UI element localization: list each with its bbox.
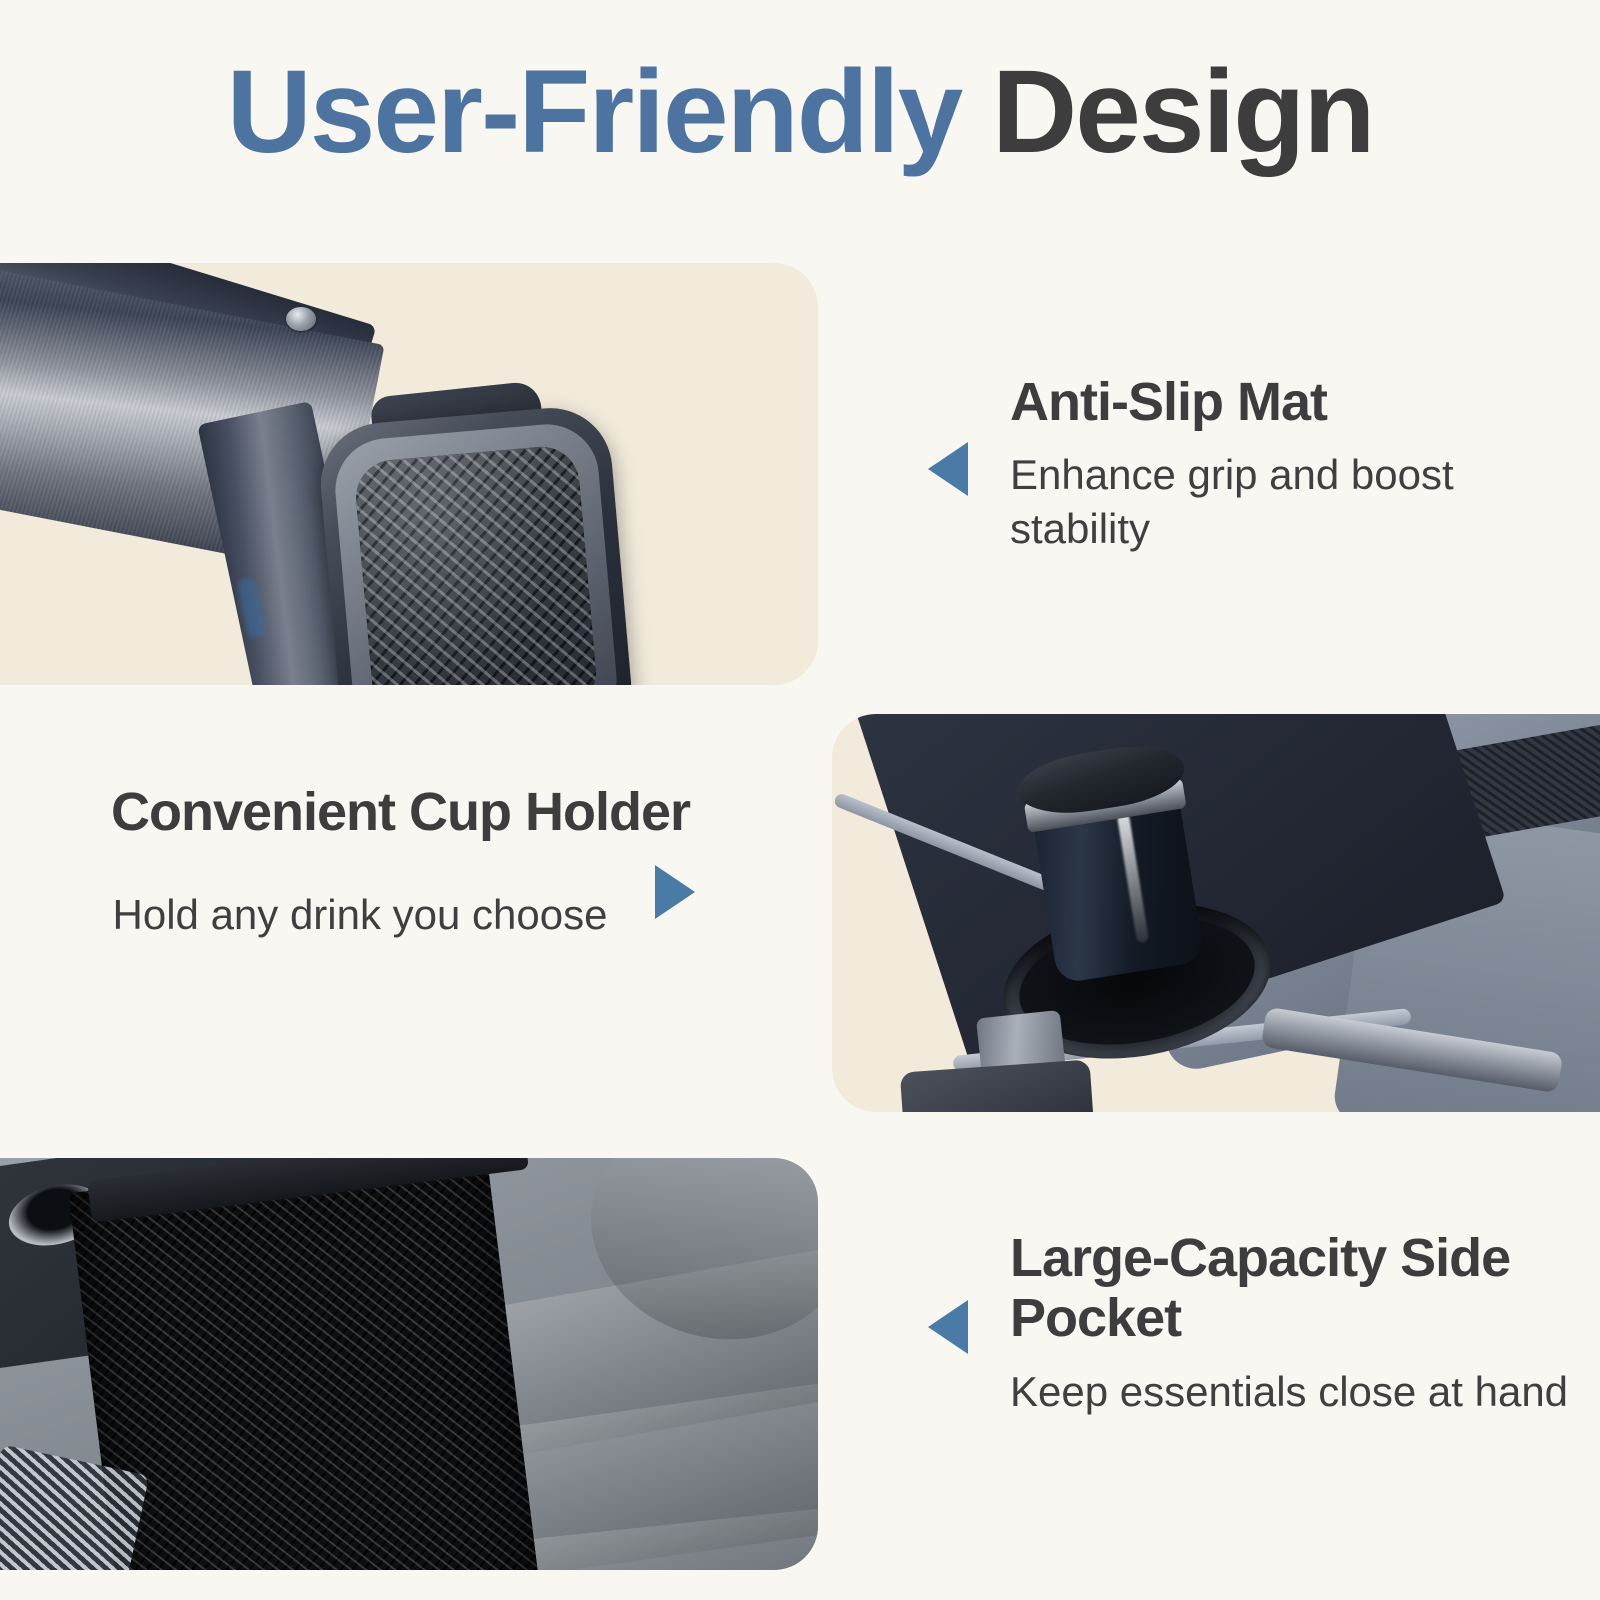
- triangle-left-icon: [928, 1300, 968, 1354]
- feature-photo-cup-holder: [832, 714, 1600, 1112]
- tube-rivet-icon: [286, 307, 316, 331]
- pad-textured-face: [353, 444, 599, 685]
- callout-cup-holder: Convenient Cup Holder Hold any drink you…: [30, 782, 690, 942]
- page-title-rest: Design: [961, 46, 1373, 178]
- callout-anti-slip: Anti-Slip Mat Enhance grip and boost sta…: [1010, 372, 1570, 556]
- callout-description-side-pocket: Keep essentials close at hand: [1010, 1365, 1570, 1419]
- feature-photo-side-pocket: [0, 1158, 818, 1570]
- callout-heading-cup-holder: Convenient Cup Holder: [30, 782, 690, 842]
- tumbler-cup: [1008, 737, 1219, 984]
- photo-cup-holder: [832, 714, 1600, 1112]
- triangle-left-icon: [928, 442, 968, 496]
- callout-description-cup-holder: Hold any drink you choose: [30, 888, 690, 942]
- callout-description-anti-slip: Enhance grip and boost stability: [1010, 448, 1570, 556]
- anti-slip-pad: [316, 403, 637, 685]
- callout-heading-side-pocket: Large-Capacity Side Pocket: [1010, 1228, 1570, 1349]
- callout-heading-anti-slip: Anti-Slip Mat: [1010, 372, 1570, 432]
- feature-photo-anti-slip: [0, 263, 818, 685]
- photo-anti-slip-foot: [0, 263, 818, 685]
- page-title: User-Friendly Design: [0, 48, 1600, 178]
- chair-frame-joint: [900, 1059, 1094, 1112]
- page-title-highlight: User-Friendly: [227, 46, 962, 178]
- infographic-page: User-Friendly Design: [0, 0, 1600, 1600]
- callout-side-pocket: Large-Capacity Side Pocket Keep essentia…: [1010, 1228, 1570, 1419]
- photo-side-pocket: [0, 1158, 818, 1570]
